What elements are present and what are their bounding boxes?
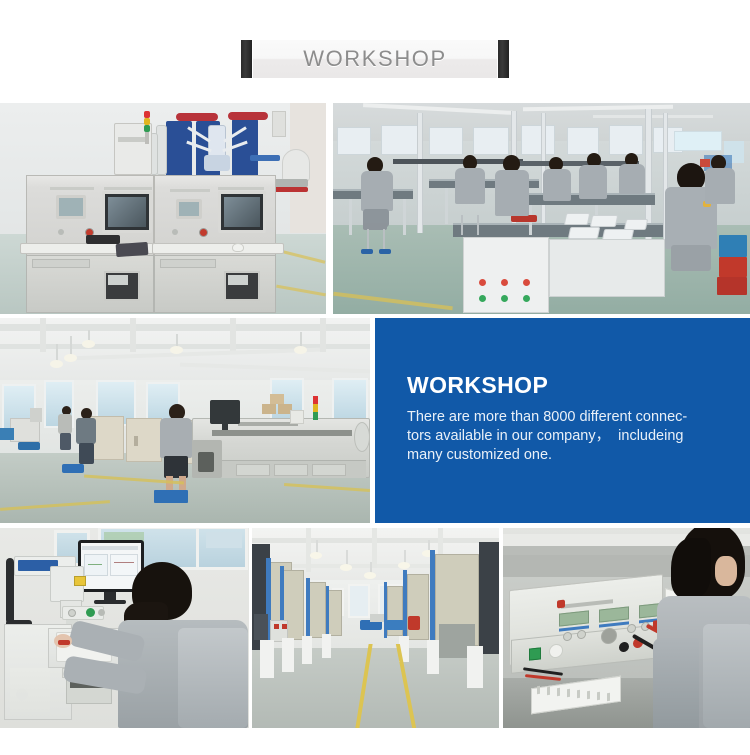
info-panel-body-line-1: There are more than 8000 different conne… (407, 408, 727, 427)
workshop-page: WORKSHOP (0, 0, 750, 755)
page-header-banner: WORKSHOP (241, 40, 509, 78)
photo-electrical-testing-bench (503, 528, 750, 728)
info-panel-title: WORKSHOP (407, 372, 548, 399)
info-panel: WORKSHOP There are more than 8000 differ… (375, 318, 750, 523)
banner-cap-right-icon (498, 40, 509, 78)
info-panel-body: There are more than 8000 different conne… (407, 408, 727, 465)
info-panel-body-line-3: many customized one. (407, 446, 727, 465)
photo-production-floor-reflow-oven (0, 318, 370, 523)
photo-control-panel-station (0, 103, 326, 314)
page-title: WORKSHOP (253, 40, 497, 78)
banner-cap-left-icon (241, 40, 252, 78)
info-panel-body-line-2: tors available in our company， includein… (407, 427, 727, 446)
photo-molding-machine-hall (252, 528, 499, 728)
photo-assembly-line (333, 103, 750, 314)
photo-laser-marking-station (0, 528, 249, 728)
